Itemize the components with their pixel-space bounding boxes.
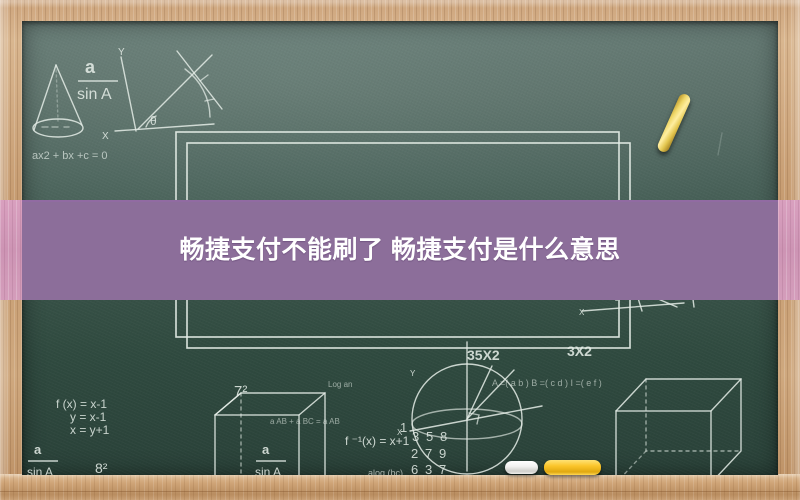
chalk-angle-theta: θ: [150, 114, 157, 128]
chalk-axis-x-label: X: [102, 131, 109, 142]
chalk-matrix-notation: A =( a b ) B =( c d ) I =( e f ): [492, 378, 602, 388]
chalk-axis-y2-label: Y: [410, 369, 416, 378]
chalk-cone-icon: [33, 65, 83, 137]
chalk-stick-yellow-ledge[interactable]: [544, 460, 601, 475]
svg-text:9: 9: [439, 446, 446, 461]
banner-wood-overlay-left: [0, 200, 22, 300]
chalk-fraction3-denominator: sin A: [255, 465, 281, 475]
chalk-cube-right: [616, 379, 741, 475]
svg-text:x = y+1: x = y+1: [70, 423, 110, 437]
svg-text:8: 8: [440, 429, 447, 444]
svg-text:1: 1: [400, 420, 407, 435]
screenshot-root: a sin A Y X θ ax2 + bx +c = 0 f (x) = x-…: [0, 0, 800, 500]
svg-text:2: 2: [411, 446, 418, 461]
svg-text:7: 7: [425, 446, 432, 461]
chalk-power-8: 8²: [95, 460, 108, 475]
banner-top-divider: [0, 200, 800, 202]
svg-text:y = x-1: y = x-1: [70, 410, 107, 424]
wooden-ledge: [0, 474, 800, 500]
svg-text:7: 7: [439, 462, 446, 475]
chalk-axis-y-label: Y: [118, 47, 125, 58]
svg-text:5: 5: [426, 429, 433, 444]
chalk-axes-angle-diagram: [115, 51, 222, 131]
chalk-matrix-label-3x2: 3X2: [567, 343, 592, 359]
chalk-log-formula: alog (bc): [368, 468, 403, 475]
ledge-groove: [0, 491, 800, 492]
chalk-vector-formula: a AB + a BC = a AB: [270, 417, 340, 426]
chalk-power-7: 7²: [234, 383, 247, 400]
chalk-fraction2-denominator: sin A: [27, 465, 53, 475]
chalk-axis-x3-label: X: [579, 308, 585, 317]
svg-text:3: 3: [425, 462, 432, 475]
chalk-matrix-label-35x2: 35X2: [467, 347, 500, 363]
banner-wood-overlay-right: [778, 200, 800, 300]
banner-title-text: 畅捷支付不能刷了 畅捷支付是什么意思: [180, 238, 621, 263]
chalk-fraction-denominator: sin A: [77, 86, 112, 103]
chalk-fraction3-numerator: a: [262, 442, 270, 457]
svg-text:f (x) = x-1: f (x) = x-1: [56, 397, 107, 411]
chalk-fraction-numerator: a: [85, 57, 96, 77]
chalk-log-an: Log an: [328, 380, 352, 389]
chalk-stick-white-ledge[interactable]: [505, 461, 538, 474]
chalk-cube-left: [215, 393, 325, 475]
svg-text:6: 6: [411, 462, 418, 475]
chalk-fraction2-numerator: a: [34, 442, 42, 457]
svg-text:3: 3: [412, 429, 419, 444]
chalk-function-equations: f (x) = x-1 y = x-1 x = y+1: [56, 397, 110, 437]
chalk-quadratic-equation: ax2 + bx +c = 0: [32, 150, 108, 162]
title-banner: 畅捷支付不能刷了 畅捷支付是什么意思: [0, 200, 800, 300]
